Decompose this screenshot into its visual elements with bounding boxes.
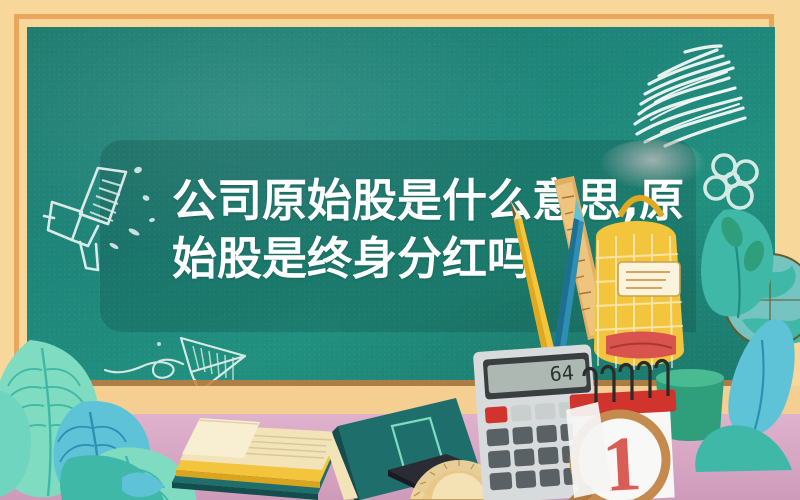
cover-image: 公司原始股是什么意思,原始股是终身分红吗 [0,0,800,500]
backpack-icon [594,198,684,370]
stationery-cluster: 64 [470,170,800,500]
calculator-display-value: 64 [549,360,575,386]
